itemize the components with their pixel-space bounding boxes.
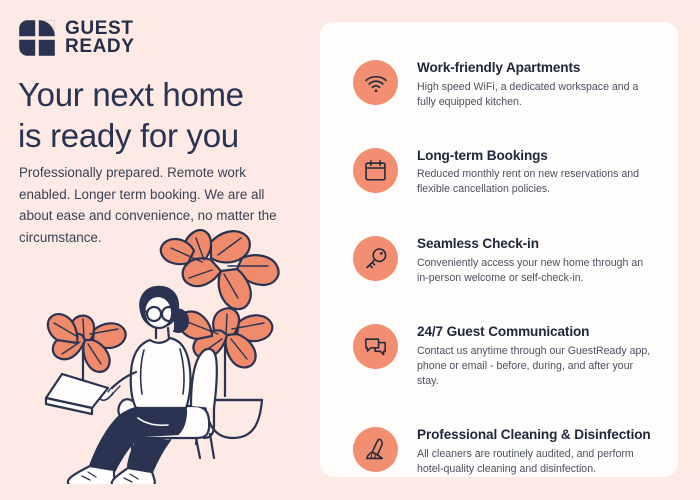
feature-item[interactable]: Seamless Check-in Conveniently access yo… [353,234,653,286]
key-icon [353,236,398,281]
calendar-icon [353,148,398,193]
feature-description: All cleaners are routinely audited, and … [417,447,653,477]
promo-page: GUEST READY Your next home is ready for … [0,0,700,500]
feature-description: Reduced monthly rent on new reservations… [417,167,653,197]
page-title: Your next home is ready for you [18,74,304,157]
feature-title: Work-friendly Apartments [417,59,653,77]
hero-column: GUEST READY Your next home is ready for … [0,0,312,500]
chat-bubbles-icon [353,324,398,369]
feature-title: Seamless Check-in [417,235,653,253]
feature-title: Professional Cleaning & Disinfection [417,426,653,444]
feature-description: High speed WiFi, a dedicated workspace a… [417,80,653,110]
feature-item[interactable]: Work-friendly Apartments High speed WiFi… [353,58,653,110]
feature-description: Conveniently access your new home throug… [417,256,653,286]
brand-logo[interactable]: GUEST READY [18,19,135,57]
features-list: Work-friendly Apartments High speed WiFi… [353,58,653,477]
feature-text: Seamless Check-in Conveniently access yo… [417,234,653,286]
feature-item[interactable]: Professional Cleaning & Disinfection All… [353,425,653,477]
headline-line-1: Your next home [18,74,304,115]
feature-item[interactable]: Long-term Bookings Reduced monthly rent … [353,146,653,198]
feature-title: Long-term Bookings [417,147,653,165]
hero-illustration [28,222,312,484]
feature-text: Professional Cleaning & Disinfection All… [417,425,653,477]
feature-title: 24/7 Guest Communication [417,323,653,341]
feature-description: Contact us anytime through our GuestRead… [417,344,653,389]
feature-item[interactable]: 24/7 Guest Communication Contact us anyt… [353,322,653,389]
brand-name-line2: READY [65,38,135,56]
wifi-icon [353,60,398,105]
feature-text: 24/7 Guest Communication Contact us anyt… [417,322,653,389]
broom-icon [353,427,398,472]
feature-text: Work-friendly Apartments High speed WiFi… [417,58,653,110]
headline-line-2: is ready for you [18,115,304,156]
feature-text: Long-term Bookings Reduced monthly rent … [417,146,653,198]
guestready-squares-logo-icon [18,19,56,57]
features-card: Work-friendly Apartments High speed WiFi… [320,22,678,477]
brand-wordmark: GUEST READY [65,20,135,56]
